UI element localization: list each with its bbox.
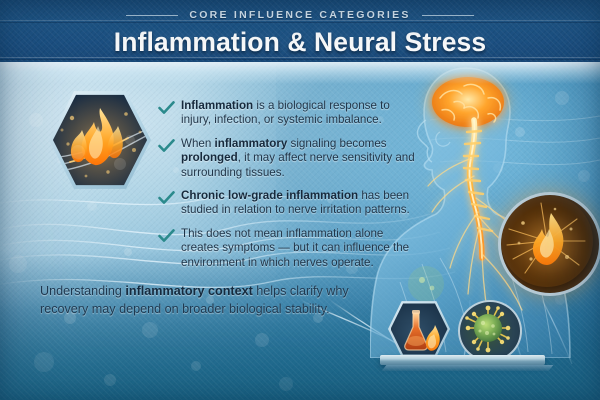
checkmark-icon bbox=[158, 191, 175, 205]
bullet-text: This does not mean inflammation alone cr… bbox=[181, 227, 420, 270]
page-title: Inflammation & Neural Stress bbox=[0, 27, 600, 58]
checkmark-icon bbox=[158, 139, 175, 153]
list-item: Inflammation is a biological response to… bbox=[158, 99, 420, 128]
flask-icon bbox=[404, 310, 427, 350]
bullet-text: When inflammatory signaling becomes prol… bbox=[181, 137, 420, 180]
checkmark-icon bbox=[158, 101, 175, 115]
bullet-text: Inflammation is a biological response to… bbox=[181, 99, 420, 128]
closing-paragraph: Understanding inflammatory context helps… bbox=[40, 283, 356, 318]
bullet-bold-inflammatory: inflammatory bbox=[215, 137, 288, 150]
flask-flame-badge bbox=[388, 300, 450, 358]
header-rule-top-shadow bbox=[0, 22, 600, 23]
poster-header: CORE INFLUENCE CATEGORIES Inflammation &… bbox=[0, 0, 600, 62]
closing-bold: inflammatory context bbox=[125, 284, 252, 298]
bullet-list: Inflammation is a biological response to… bbox=[158, 99, 420, 279]
kicker-row: CORE INFLUENCE CATEGORIES bbox=[0, 8, 600, 22]
list-item: When inflammatory signaling becomes prol… bbox=[158, 137, 420, 180]
list-item: This does not mean inflammation alone cr… bbox=[158, 227, 420, 270]
kicker-rule-left bbox=[126, 15, 178, 16]
bullet-text: Chronic low-grade inflammation has been … bbox=[181, 189, 420, 218]
bullet-bold-prolonged: prolonged bbox=[181, 151, 238, 164]
bullet-lead: Inflammation bbox=[181, 99, 253, 112]
kicker-rule-right bbox=[422, 15, 474, 16]
kicker-label: CORE INFLUENCE CATEGORIES bbox=[189, 9, 410, 21]
virus-badge bbox=[458, 300, 522, 362]
closing-pre: Understanding bbox=[40, 284, 125, 298]
flame-lens-icon bbox=[498, 192, 600, 296]
header-fade-band bbox=[0, 62, 600, 84]
bullet-lead: Chronic low-grade inflammation bbox=[181, 189, 358, 202]
infographic-poster: CORE INFLUENCE CATEGORIES Inflammation &… bbox=[0, 0, 600, 400]
glass-shelf bbox=[380, 355, 545, 365]
checkmark-icon bbox=[158, 229, 175, 243]
header-rule-bottom-shadow bbox=[0, 59, 600, 60]
flame-hexagon-badge bbox=[48, 88, 152, 192]
list-item: Chronic low-grade inflammation has been … bbox=[158, 189, 420, 218]
